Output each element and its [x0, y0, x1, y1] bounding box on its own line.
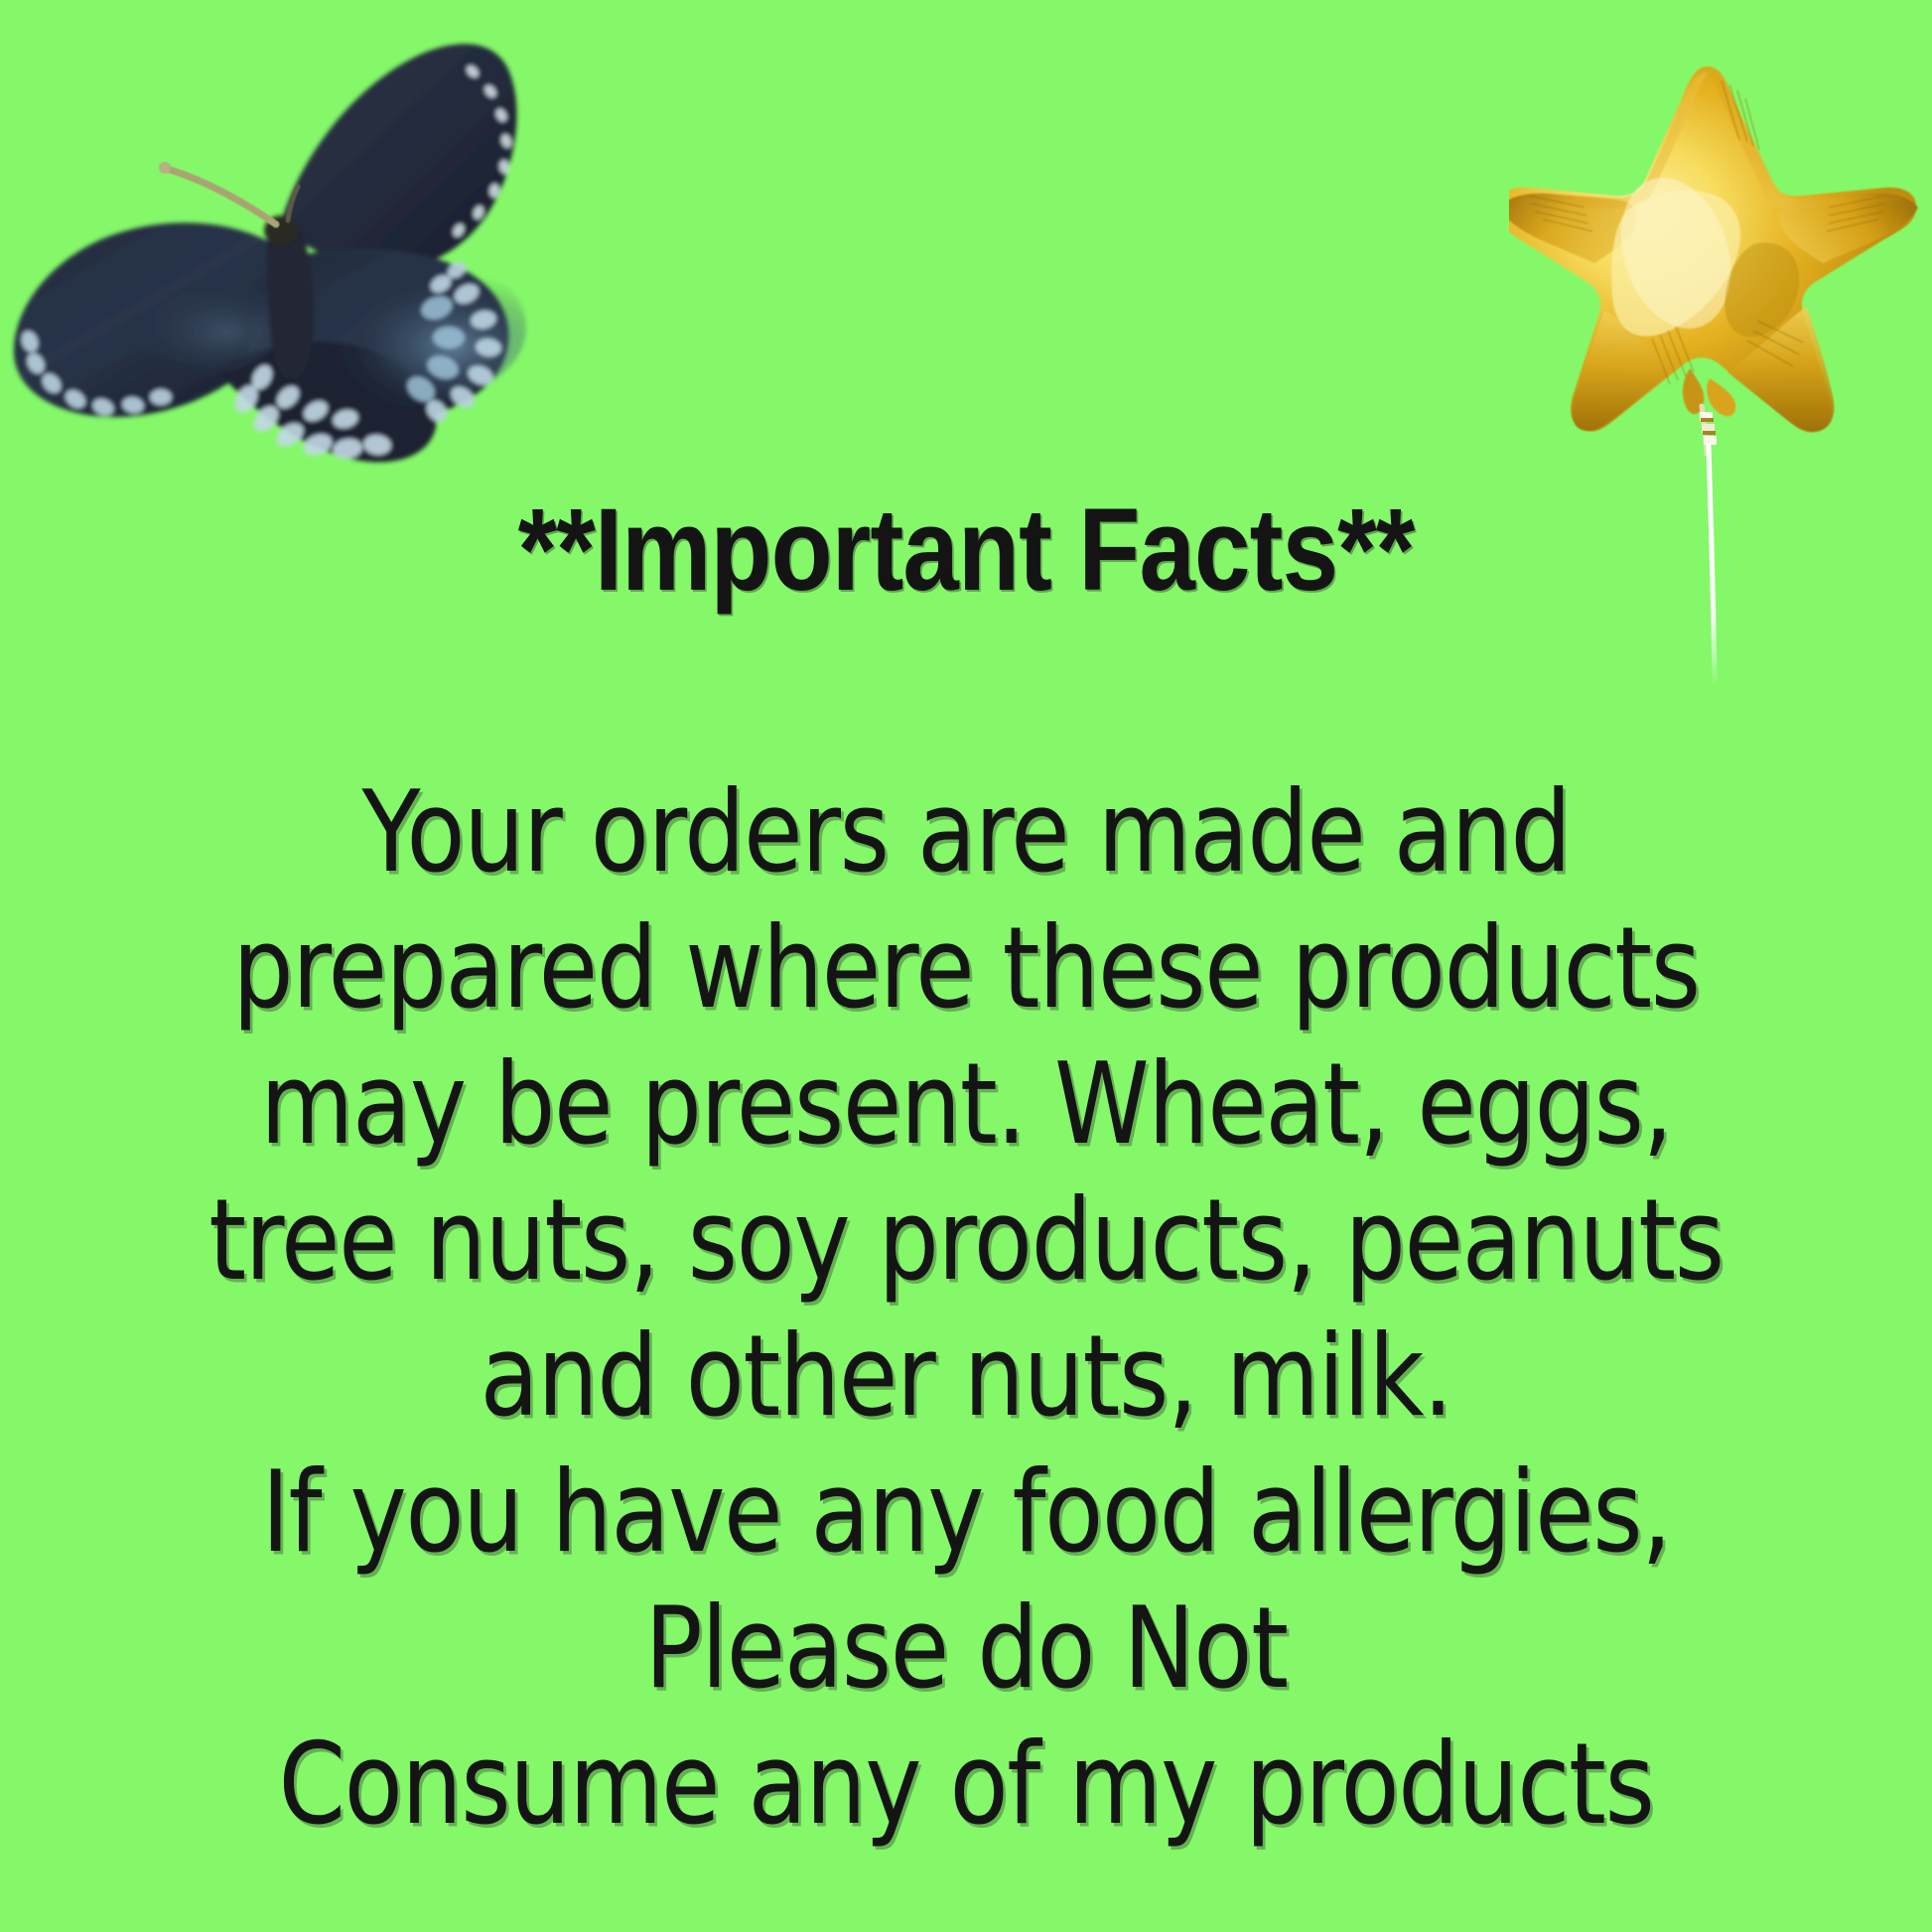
butterfly-antenna-club [159, 162, 171, 174]
poster-canvas: **Important Facts** Your orders are made… [0, 0, 1932, 1932]
gold-star-balloon-icon [1509, 45, 1932, 740]
body-line: Please do Not [104, 1575, 1827, 1723]
butterfly-forewing-right [280, 44, 517, 269]
body-line: prepared where these products [104, 895, 1827, 1042]
balloon-body [1509, 67, 1918, 432]
body-line: Your orders are made and [104, 759, 1827, 906]
butterfly-sheen-left [69, 256, 288, 379]
allergen-disclaimer-text: Your orders are made and prepared where … [40, 764, 1892, 1853]
butterfly-icon [0, 10, 576, 506]
body-line: Consume any of my products [104, 1711, 1827, 1859]
page-title: **Important Facts** [135, 491, 1797, 609]
body-line: tree nuts, soy products, peanuts [104, 1167, 1827, 1314]
balloon-string-knot [1700, 412, 1717, 445]
body-line: may be present. Wheat, eggs, [104, 1031, 1827, 1178]
body-line: If you have any food allergies, [104, 1439, 1827, 1587]
body-line: and other nuts, milk. [104, 1303, 1827, 1450]
